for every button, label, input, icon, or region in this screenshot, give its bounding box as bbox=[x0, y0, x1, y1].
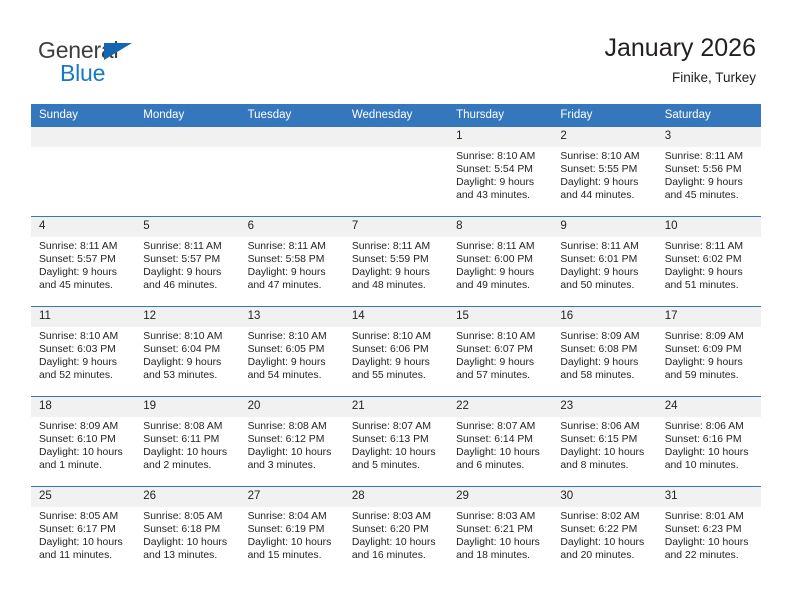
day-box: 5Sunrise: 8:11 AMSunset: 5:57 PMDaylight… bbox=[135, 217, 239, 306]
sunset-text: Sunset: 6:01 PM bbox=[560, 253, 650, 266]
calendar-day-cell[interactable]: 20Sunrise: 8:08 AMSunset: 6:12 PMDayligh… bbox=[240, 397, 344, 487]
day-box bbox=[31, 127, 135, 216]
sunset-text: Sunset: 6:17 PM bbox=[39, 523, 129, 536]
day-sun-info: Sunrise: 8:11 AMSunset: 5:58 PMDaylight:… bbox=[240, 237, 344, 292]
day-box: 15Sunrise: 8:10 AMSunset: 6:07 PMDayligh… bbox=[448, 307, 552, 396]
day-number: 20 bbox=[240, 397, 344, 417]
sunrise-text: Sunrise: 8:05 AM bbox=[143, 510, 233, 523]
daylight-text-line1: Daylight: 10 hours bbox=[143, 446, 233, 459]
sunset-text: Sunset: 5:55 PM bbox=[560, 163, 650, 176]
daylight-text-line2: and 45 minutes. bbox=[39, 279, 129, 292]
daylight-text-line2: and 44 minutes. bbox=[560, 189, 650, 202]
day-box: 26Sunrise: 8:05 AMSunset: 6:18 PMDayligh… bbox=[135, 487, 239, 576]
calendar-day-cell[interactable]: 29Sunrise: 8:03 AMSunset: 6:21 PMDayligh… bbox=[448, 487, 552, 577]
sunset-text: Sunset: 6:16 PM bbox=[665, 433, 755, 446]
sunrise-text: Sunrise: 8:08 AM bbox=[143, 420, 233, 433]
day-sun-info: Sunrise: 8:11 AMSunset: 6:00 PMDaylight:… bbox=[448, 237, 552, 292]
calendar-page: General Blue January 2026 Finike, Turkey… bbox=[0, 0, 792, 612]
day-sun-info: Sunrise: 8:08 AMSunset: 6:12 PMDaylight:… bbox=[240, 417, 344, 472]
day-number: 23 bbox=[552, 397, 656, 417]
page-subtitle: Finike, Turkey bbox=[604, 69, 756, 86]
daylight-text-line1: Daylight: 10 hours bbox=[39, 446, 129, 459]
day-number: 30 bbox=[552, 487, 656, 507]
calendar-day-cell[interactable]: 6Sunrise: 8:11 AMSunset: 5:58 PMDaylight… bbox=[240, 217, 344, 307]
calendar-week-row: 18Sunrise: 8:09 AMSunset: 6:10 PMDayligh… bbox=[31, 397, 761, 487]
daylight-text-line1: Daylight: 9 hours bbox=[456, 266, 546, 279]
day-number: 4 bbox=[31, 217, 135, 237]
sunset-text: Sunset: 6:04 PM bbox=[143, 343, 233, 356]
calendar-day-cell[interactable]: 13Sunrise: 8:10 AMSunset: 6:05 PMDayligh… bbox=[240, 307, 344, 397]
day-sun-info: Sunrise: 8:10 AMSunset: 5:55 PMDaylight:… bbox=[552, 147, 656, 202]
calendar-day-cell[interactable]: 12Sunrise: 8:10 AMSunset: 6:04 PMDayligh… bbox=[135, 307, 239, 397]
page-title: January 2026 bbox=[604, 33, 756, 64]
sunset-text: Sunset: 6:14 PM bbox=[456, 433, 546, 446]
calendar-day-cell[interactable]: 10Sunrise: 8:11 AMSunset: 6:02 PMDayligh… bbox=[657, 217, 761, 307]
calendar-day-cell[interactable]: 21Sunrise: 8:07 AMSunset: 6:13 PMDayligh… bbox=[344, 397, 448, 487]
day-number bbox=[240, 127, 344, 147]
day-sun-info: Sunrise: 8:10 AMSunset: 6:03 PMDaylight:… bbox=[31, 327, 135, 382]
daylight-text-line2: and 16 minutes. bbox=[352, 549, 442, 562]
calendar-day-cell[interactable]: 23Sunrise: 8:06 AMSunset: 6:15 PMDayligh… bbox=[552, 397, 656, 487]
day-number: 24 bbox=[657, 397, 761, 417]
sunset-text: Sunset: 6:15 PM bbox=[560, 433, 650, 446]
daylight-text-line2: and 49 minutes. bbox=[456, 279, 546, 292]
sunset-text: Sunset: 5:57 PM bbox=[143, 253, 233, 266]
daylight-text-line2: and 13 minutes. bbox=[143, 549, 233, 562]
calendar-week-row: 4Sunrise: 8:11 AMSunset: 5:57 PMDaylight… bbox=[31, 217, 761, 307]
day-sun-info: Sunrise: 8:10 AMSunset: 5:54 PMDaylight:… bbox=[448, 147, 552, 202]
daylight-text-line1: Daylight: 9 hours bbox=[248, 356, 338, 369]
sunrise-text: Sunrise: 8:11 AM bbox=[456, 240, 546, 253]
day-box: 9Sunrise: 8:11 AMSunset: 6:01 PMDaylight… bbox=[552, 217, 656, 306]
day-number: 31 bbox=[657, 487, 761, 507]
sunrise-text: Sunrise: 8:11 AM bbox=[665, 150, 755, 163]
sunset-text: Sunset: 6:20 PM bbox=[352, 523, 442, 536]
daylight-text-line1: Daylight: 9 hours bbox=[352, 266, 442, 279]
day-sun-info: Sunrise: 8:11 AMSunset: 5:59 PMDaylight:… bbox=[344, 237, 448, 292]
calendar-week-row: 25Sunrise: 8:05 AMSunset: 6:17 PMDayligh… bbox=[31, 487, 761, 577]
calendar-day-cell[interactable]: 24Sunrise: 8:06 AMSunset: 6:16 PMDayligh… bbox=[657, 397, 761, 487]
daylight-text-line2: and 48 minutes. bbox=[352, 279, 442, 292]
day-number: 14 bbox=[344, 307, 448, 327]
calendar-day-cell[interactable]: 1Sunrise: 8:10 AMSunset: 5:54 PMDaylight… bbox=[448, 127, 552, 217]
daylight-text-line1: Daylight: 10 hours bbox=[560, 536, 650, 549]
day-box: 28Sunrise: 8:03 AMSunset: 6:20 PMDayligh… bbox=[344, 487, 448, 576]
day-box: 17Sunrise: 8:09 AMSunset: 6:09 PMDayligh… bbox=[657, 307, 761, 396]
day-sun-info: Sunrise: 8:10 AMSunset: 6:06 PMDaylight:… bbox=[344, 327, 448, 382]
day-box: 6Sunrise: 8:11 AMSunset: 5:58 PMDaylight… bbox=[240, 217, 344, 306]
day-sun-info: Sunrise: 8:07 AMSunset: 6:14 PMDaylight:… bbox=[448, 417, 552, 472]
calendar-body: 1Sunrise: 8:10 AMSunset: 5:54 PMDaylight… bbox=[31, 127, 761, 576]
day-number: 8 bbox=[448, 217, 552, 237]
day-sun-info: Sunrise: 8:03 AMSunset: 6:20 PMDaylight:… bbox=[344, 507, 448, 562]
weekday-header-row: Sunday Monday Tuesday Wednesday Thursday… bbox=[31, 104, 761, 127]
calendar-day-cell[interactable]: 17Sunrise: 8:09 AMSunset: 6:09 PMDayligh… bbox=[657, 307, 761, 397]
day-box: 29Sunrise: 8:03 AMSunset: 6:21 PMDayligh… bbox=[448, 487, 552, 576]
weekday-header-thursday: Thursday bbox=[448, 104, 552, 127]
day-box: 23Sunrise: 8:06 AMSunset: 6:15 PMDayligh… bbox=[552, 397, 656, 486]
daylight-text-line1: Daylight: 9 hours bbox=[39, 356, 129, 369]
sunset-text: Sunset: 6:00 PM bbox=[456, 253, 546, 266]
sunset-text: Sunset: 5:57 PM bbox=[39, 253, 129, 266]
daylight-text-line1: Daylight: 9 hours bbox=[560, 356, 650, 369]
daylight-text-line1: Daylight: 10 hours bbox=[248, 536, 338, 549]
sunset-text: Sunset: 6:22 PM bbox=[560, 523, 650, 536]
calendar-day-cell[interactable]: 31Sunrise: 8:01 AMSunset: 6:23 PMDayligh… bbox=[657, 487, 761, 577]
sunrise-text: Sunrise: 8:11 AM bbox=[665, 240, 755, 253]
daylight-text-line2: and 20 minutes. bbox=[560, 549, 650, 562]
day-box bbox=[135, 127, 239, 216]
day-number bbox=[31, 127, 135, 147]
sunrise-text: Sunrise: 8:11 AM bbox=[352, 240, 442, 253]
page-header: General Blue January 2026 Finike, Turkey bbox=[0, 0, 792, 100]
sunset-text: Sunset: 6:07 PM bbox=[456, 343, 546, 356]
sunrise-text: Sunrise: 8:11 AM bbox=[143, 240, 233, 253]
daylight-text-line1: Daylight: 9 hours bbox=[665, 266, 755, 279]
sunset-text: Sunset: 6:06 PM bbox=[352, 343, 442, 356]
day-box: 13Sunrise: 8:10 AMSunset: 6:05 PMDayligh… bbox=[240, 307, 344, 396]
calendar-day-cell[interactable]: 16Sunrise: 8:09 AMSunset: 6:08 PMDayligh… bbox=[552, 307, 656, 397]
day-number: 1 bbox=[448, 127, 552, 147]
sunrise-text: Sunrise: 8:04 AM bbox=[248, 510, 338, 523]
calendar-grid: Sunday Monday Tuesday Wednesday Thursday… bbox=[31, 104, 761, 576]
day-number: 29 bbox=[448, 487, 552, 507]
weekday-header-monday: Monday bbox=[135, 104, 239, 127]
sunrise-text: Sunrise: 8:06 AM bbox=[560, 420, 650, 433]
sunset-text: Sunset: 6:03 PM bbox=[39, 343, 129, 356]
weekday-header-tuesday: Tuesday bbox=[240, 104, 344, 127]
day-number: 15 bbox=[448, 307, 552, 327]
calendar-day-cell[interactable]: 14Sunrise: 8:10 AMSunset: 6:06 PMDayligh… bbox=[344, 307, 448, 397]
calendar-day-cell[interactable]: 3Sunrise: 8:11 AMSunset: 5:56 PMDaylight… bbox=[657, 127, 761, 217]
daylight-text-line1: Daylight: 10 hours bbox=[352, 446, 442, 459]
daylight-text-line1: Daylight: 9 hours bbox=[665, 176, 755, 189]
daylight-text-line2: and 57 minutes. bbox=[456, 369, 546, 382]
day-number: 18 bbox=[31, 397, 135, 417]
day-sun-info: Sunrise: 8:10 AMSunset: 6:04 PMDaylight:… bbox=[135, 327, 239, 382]
day-box: 2Sunrise: 8:10 AMSunset: 5:55 PMDaylight… bbox=[552, 127, 656, 216]
day-number: 19 bbox=[135, 397, 239, 417]
day-box: 3Sunrise: 8:11 AMSunset: 5:56 PMDaylight… bbox=[657, 127, 761, 216]
day-box: 25Sunrise: 8:05 AMSunset: 6:17 PMDayligh… bbox=[31, 487, 135, 576]
weekday-header-saturday: Saturday bbox=[657, 104, 761, 127]
day-sun-info: Sunrise: 8:06 AMSunset: 6:16 PMDaylight:… bbox=[657, 417, 761, 472]
day-box: 12Sunrise: 8:10 AMSunset: 6:04 PMDayligh… bbox=[135, 307, 239, 396]
daylight-text-line1: Daylight: 10 hours bbox=[248, 446, 338, 459]
day-sun-info: Sunrise: 8:11 AMSunset: 5:57 PMDaylight:… bbox=[31, 237, 135, 292]
sunrise-text: Sunrise: 8:10 AM bbox=[560, 150, 650, 163]
day-box: 22Sunrise: 8:07 AMSunset: 6:14 PMDayligh… bbox=[448, 397, 552, 486]
day-number: 11 bbox=[31, 307, 135, 327]
calendar-day-cell[interactable] bbox=[344, 127, 448, 217]
daylight-text-line2: and 53 minutes. bbox=[143, 369, 233, 382]
sunset-text: Sunset: 6:12 PM bbox=[248, 433, 338, 446]
calendar-day-cell[interactable] bbox=[135, 127, 239, 217]
daylight-text-line2: and 15 minutes. bbox=[248, 549, 338, 562]
sunset-text: Sunset: 6:09 PM bbox=[665, 343, 755, 356]
weekday-header-wednesday: Wednesday bbox=[344, 104, 448, 127]
day-sun-info: Sunrise: 8:03 AMSunset: 6:21 PMDaylight:… bbox=[448, 507, 552, 562]
day-number: 7 bbox=[344, 217, 448, 237]
daylight-text-line1: Daylight: 9 hours bbox=[560, 266, 650, 279]
daylight-text-line1: Daylight: 9 hours bbox=[665, 356, 755, 369]
daylight-text-line2: and 10 minutes. bbox=[665, 459, 755, 472]
sunset-text: Sunset: 6:05 PM bbox=[248, 343, 338, 356]
sunset-text: Sunset: 6:21 PM bbox=[456, 523, 546, 536]
calendar-day-cell[interactable] bbox=[240, 127, 344, 217]
sunrise-text: Sunrise: 8:01 AM bbox=[665, 510, 755, 523]
daylight-text-line2: and 59 minutes. bbox=[665, 369, 755, 382]
sunset-text: Sunset: 6:18 PM bbox=[143, 523, 233, 536]
day-sun-info: Sunrise: 8:11 AMSunset: 6:01 PMDaylight:… bbox=[552, 237, 656, 292]
day-number: 3 bbox=[657, 127, 761, 147]
day-sun-info: Sunrise: 8:11 AMSunset: 6:02 PMDaylight:… bbox=[657, 237, 761, 292]
day-sun-info: Sunrise: 8:07 AMSunset: 6:13 PMDaylight:… bbox=[344, 417, 448, 472]
calendar-day-cell[interactable]: 19Sunrise: 8:08 AMSunset: 6:11 PMDayligh… bbox=[135, 397, 239, 487]
day-box: 10Sunrise: 8:11 AMSunset: 6:02 PMDayligh… bbox=[657, 217, 761, 306]
daylight-text-line2: and 11 minutes. bbox=[39, 549, 129, 562]
day-box: 7Sunrise: 8:11 AMSunset: 5:59 PMDaylight… bbox=[344, 217, 448, 306]
sunset-text: Sunset: 6:13 PM bbox=[352, 433, 442, 446]
calendar-day-cell[interactable]: 2Sunrise: 8:10 AMSunset: 5:55 PMDaylight… bbox=[552, 127, 656, 217]
daylight-text-line1: Daylight: 10 hours bbox=[560, 446, 650, 459]
sunset-text: Sunset: 6:11 PM bbox=[143, 433, 233, 446]
day-box: 19Sunrise: 8:08 AMSunset: 6:11 PMDayligh… bbox=[135, 397, 239, 486]
calendar-day-cell[interactable]: 5Sunrise: 8:11 AMSunset: 5:57 PMDaylight… bbox=[135, 217, 239, 307]
sunset-text: Sunset: 5:59 PM bbox=[352, 253, 442, 266]
day-sun-info: Sunrise: 8:01 AMSunset: 6:23 PMDaylight:… bbox=[657, 507, 761, 562]
day-sun-info: Sunrise: 8:04 AMSunset: 6:19 PMDaylight:… bbox=[240, 507, 344, 562]
day-box: 14Sunrise: 8:10 AMSunset: 6:06 PMDayligh… bbox=[344, 307, 448, 396]
title-block: January 2026 Finike, Turkey bbox=[604, 33, 756, 86]
calendar-day-cell[interactable]: 22Sunrise: 8:07 AMSunset: 6:14 PMDayligh… bbox=[448, 397, 552, 487]
sunset-text: Sunset: 6:10 PM bbox=[39, 433, 129, 446]
day-number: 22 bbox=[448, 397, 552, 417]
sunset-text: Sunset: 6:02 PM bbox=[665, 253, 755, 266]
daylight-text-line2: and 5 minutes. bbox=[352, 459, 442, 472]
sunrise-text: Sunrise: 8:05 AM bbox=[39, 510, 129, 523]
day-box: 16Sunrise: 8:09 AMSunset: 6:08 PMDayligh… bbox=[552, 307, 656, 396]
day-number: 28 bbox=[344, 487, 448, 507]
day-box: 31Sunrise: 8:01 AMSunset: 6:23 PMDayligh… bbox=[657, 487, 761, 576]
calendar-week-row: 1Sunrise: 8:10 AMSunset: 5:54 PMDaylight… bbox=[31, 127, 761, 217]
day-box: 4Sunrise: 8:11 AMSunset: 5:57 PMDaylight… bbox=[31, 217, 135, 306]
day-box: 8Sunrise: 8:11 AMSunset: 6:00 PMDaylight… bbox=[448, 217, 552, 306]
sunrise-text: Sunrise: 8:09 AM bbox=[39, 420, 129, 433]
daylight-text-line1: Daylight: 9 hours bbox=[456, 176, 546, 189]
day-number bbox=[344, 127, 448, 147]
day-number: 10 bbox=[657, 217, 761, 237]
calendar-day-cell[interactable]: 18Sunrise: 8:09 AMSunset: 6:10 PMDayligh… bbox=[31, 397, 135, 487]
day-sun-info: Sunrise: 8:08 AMSunset: 6:11 PMDaylight:… bbox=[135, 417, 239, 472]
daylight-text-line1: Daylight: 10 hours bbox=[456, 536, 546, 549]
daylight-text-line1: Daylight: 9 hours bbox=[456, 356, 546, 369]
sunrise-text: Sunrise: 8:10 AM bbox=[39, 330, 129, 343]
calendar-day-cell[interactable]: 9Sunrise: 8:11 AMSunset: 6:01 PMDaylight… bbox=[552, 217, 656, 307]
calendar-day-cell[interactable]: 26Sunrise: 8:05 AMSunset: 6:18 PMDayligh… bbox=[135, 487, 239, 577]
day-number: 12 bbox=[135, 307, 239, 327]
day-number: 27 bbox=[240, 487, 344, 507]
day-box: 21Sunrise: 8:07 AMSunset: 6:13 PMDayligh… bbox=[344, 397, 448, 486]
daylight-text-line1: Daylight: 9 hours bbox=[248, 266, 338, 279]
sunrise-text: Sunrise: 8:10 AM bbox=[456, 150, 546, 163]
day-number: 13 bbox=[240, 307, 344, 327]
calendar-day-cell[interactable]: 27Sunrise: 8:04 AMSunset: 6:19 PMDayligh… bbox=[240, 487, 344, 577]
day-number: 17 bbox=[657, 307, 761, 327]
daylight-text-line1: Daylight: 9 hours bbox=[39, 266, 129, 279]
daylight-text-line2: and 3 minutes. bbox=[248, 459, 338, 472]
day-box: 18Sunrise: 8:09 AMSunset: 6:10 PMDayligh… bbox=[31, 397, 135, 486]
weekday-header-sunday: Sunday bbox=[31, 104, 135, 127]
calendar-day-cell[interactable] bbox=[31, 127, 135, 217]
daylight-text-line1: Daylight: 9 hours bbox=[143, 266, 233, 279]
sunrise-text: Sunrise: 8:07 AM bbox=[456, 420, 546, 433]
daylight-text-line1: Daylight: 10 hours bbox=[352, 536, 442, 549]
daylight-text-line2: and 2 minutes. bbox=[143, 459, 233, 472]
daylight-text-line2: and 58 minutes. bbox=[560, 369, 650, 382]
day-number bbox=[135, 127, 239, 147]
daylight-text-line1: Daylight: 10 hours bbox=[665, 536, 755, 549]
day-sun-info: Sunrise: 8:09 AMSunset: 6:08 PMDaylight:… bbox=[552, 327, 656, 382]
daylight-text-line2: and 47 minutes. bbox=[248, 279, 338, 292]
sunrise-text: Sunrise: 8:09 AM bbox=[560, 330, 650, 343]
sunrise-text: Sunrise: 8:09 AM bbox=[665, 330, 755, 343]
calendar-day-cell[interactable]: 30Sunrise: 8:02 AMSunset: 6:22 PMDayligh… bbox=[552, 487, 656, 577]
calendar-day-cell[interactable]: 4Sunrise: 8:11 AMSunset: 5:57 PMDaylight… bbox=[31, 217, 135, 307]
sunrise-text: Sunrise: 8:10 AM bbox=[248, 330, 338, 343]
sunrise-text: Sunrise: 8:07 AM bbox=[352, 420, 442, 433]
logo-text-blue: Blue bbox=[60, 61, 105, 86]
calendar-day-cell[interactable]: 15Sunrise: 8:10 AMSunset: 6:07 PMDayligh… bbox=[448, 307, 552, 397]
sunrise-text: Sunrise: 8:10 AM bbox=[352, 330, 442, 343]
day-box: 24Sunrise: 8:06 AMSunset: 6:16 PMDayligh… bbox=[657, 397, 761, 486]
calendar-week-row: 11Sunrise: 8:10 AMSunset: 6:03 PMDayligh… bbox=[31, 307, 761, 397]
sunrise-text: Sunrise: 8:08 AM bbox=[248, 420, 338, 433]
daylight-text-line2: and 46 minutes. bbox=[143, 279, 233, 292]
day-sun-info: Sunrise: 8:09 AMSunset: 6:10 PMDaylight:… bbox=[31, 417, 135, 472]
day-sun-info: Sunrise: 8:05 AMSunset: 6:18 PMDaylight:… bbox=[135, 507, 239, 562]
sunrise-text: Sunrise: 8:11 AM bbox=[248, 240, 338, 253]
calendar-day-cell[interactable]: 11Sunrise: 8:10 AMSunset: 6:03 PMDayligh… bbox=[31, 307, 135, 397]
day-number: 9 bbox=[552, 217, 656, 237]
sunset-text: Sunset: 6:08 PM bbox=[560, 343, 650, 356]
day-number: 2 bbox=[552, 127, 656, 147]
calendar-day-cell[interactable]: 28Sunrise: 8:03 AMSunset: 6:20 PMDayligh… bbox=[344, 487, 448, 577]
day-sun-info: Sunrise: 8:05 AMSunset: 6:17 PMDaylight:… bbox=[31, 507, 135, 562]
day-sun-info: Sunrise: 8:11 AMSunset: 5:56 PMDaylight:… bbox=[657, 147, 761, 202]
sunset-text: Sunset: 5:54 PM bbox=[456, 163, 546, 176]
day-box: 20Sunrise: 8:08 AMSunset: 6:12 PMDayligh… bbox=[240, 397, 344, 486]
daylight-text-line1: Daylight: 9 hours bbox=[352, 356, 442, 369]
day-box bbox=[344, 127, 448, 216]
daylight-text-line2: and 45 minutes. bbox=[665, 189, 755, 202]
day-box: 30Sunrise: 8:02 AMSunset: 6:22 PMDayligh… bbox=[552, 487, 656, 576]
day-box bbox=[240, 127, 344, 216]
sunset-text: Sunset: 6:19 PM bbox=[248, 523, 338, 536]
calendar-day-cell[interactable]: 25Sunrise: 8:05 AMSunset: 6:17 PMDayligh… bbox=[31, 487, 135, 577]
day-sun-info: Sunrise: 8:02 AMSunset: 6:22 PMDaylight:… bbox=[552, 507, 656, 562]
sunrise-text: Sunrise: 8:10 AM bbox=[143, 330, 233, 343]
day-box: 1Sunrise: 8:10 AMSunset: 5:54 PMDaylight… bbox=[448, 127, 552, 216]
daylight-text-line1: Daylight: 10 hours bbox=[665, 446, 755, 459]
daylight-text-line1: Daylight: 10 hours bbox=[456, 446, 546, 459]
daylight-text-line1: Daylight: 9 hours bbox=[560, 176, 650, 189]
day-sun-info: Sunrise: 8:10 AMSunset: 6:05 PMDaylight:… bbox=[240, 327, 344, 382]
day-box: 11Sunrise: 8:10 AMSunset: 6:03 PMDayligh… bbox=[31, 307, 135, 396]
daylight-text-line2: and 18 minutes. bbox=[456, 549, 546, 562]
day-sun-info: Sunrise: 8:09 AMSunset: 6:09 PMDaylight:… bbox=[657, 327, 761, 382]
weekday-header-friday: Friday bbox=[552, 104, 656, 127]
sunrise-text: Sunrise: 8:03 AM bbox=[352, 510, 442, 523]
logo-triangle-icon bbox=[104, 43, 132, 60]
calendar-day-cell[interactable]: 7Sunrise: 8:11 AMSunset: 5:59 PMDaylight… bbox=[344, 217, 448, 307]
daylight-text-line2: and 51 minutes. bbox=[665, 279, 755, 292]
day-number: 6 bbox=[240, 217, 344, 237]
sunrise-text: Sunrise: 8:02 AM bbox=[560, 510, 650, 523]
sunset-text: Sunset: 5:56 PM bbox=[665, 163, 755, 176]
day-number: 26 bbox=[135, 487, 239, 507]
daylight-text-line2: and 1 minute. bbox=[39, 459, 129, 472]
sunrise-text: Sunrise: 8:03 AM bbox=[456, 510, 546, 523]
daylight-text-line1: Daylight: 9 hours bbox=[143, 356, 233, 369]
sunrise-text: Sunrise: 8:11 AM bbox=[560, 240, 650, 253]
daylight-text-line1: Daylight: 10 hours bbox=[143, 536, 233, 549]
daylight-text-line2: and 8 minutes. bbox=[560, 459, 650, 472]
daylight-text-line2: and 55 minutes. bbox=[352, 369, 442, 382]
day-number: 5 bbox=[135, 217, 239, 237]
daylight-text-line2: and 6 minutes. bbox=[456, 459, 546, 472]
sunset-text: Sunset: 5:58 PM bbox=[248, 253, 338, 266]
sunrise-text: Sunrise: 8:06 AM bbox=[665, 420, 755, 433]
daylight-text-line2: and 43 minutes. bbox=[456, 189, 546, 202]
daylight-text-line2: and 54 minutes. bbox=[248, 369, 338, 382]
day-number: 25 bbox=[31, 487, 135, 507]
daylight-text-line2: and 50 minutes. bbox=[560, 279, 650, 292]
day-sun-info: Sunrise: 8:10 AMSunset: 6:07 PMDaylight:… bbox=[448, 327, 552, 382]
daylight-text-line2: and 22 minutes. bbox=[665, 549, 755, 562]
general-blue-logo[interactable]: General Blue bbox=[38, 38, 238, 90]
sunrise-text: Sunrise: 8:11 AM bbox=[39, 240, 129, 253]
day-box: 27Sunrise: 8:04 AMSunset: 6:19 PMDayligh… bbox=[240, 487, 344, 576]
day-number: 16 bbox=[552, 307, 656, 327]
day-sun-info: Sunrise: 8:06 AMSunset: 6:15 PMDaylight:… bbox=[552, 417, 656, 472]
sunset-text: Sunset: 6:23 PM bbox=[665, 523, 755, 536]
daylight-text-line2: and 52 minutes. bbox=[39, 369, 129, 382]
day-number: 21 bbox=[344, 397, 448, 417]
day-sun-info: Sunrise: 8:11 AMSunset: 5:57 PMDaylight:… bbox=[135, 237, 239, 292]
calendar-day-cell[interactable]: 8Sunrise: 8:11 AMSunset: 6:00 PMDaylight… bbox=[448, 217, 552, 307]
sunrise-text: Sunrise: 8:10 AM bbox=[456, 330, 546, 343]
daylight-text-line1: Daylight: 10 hours bbox=[39, 536, 129, 549]
